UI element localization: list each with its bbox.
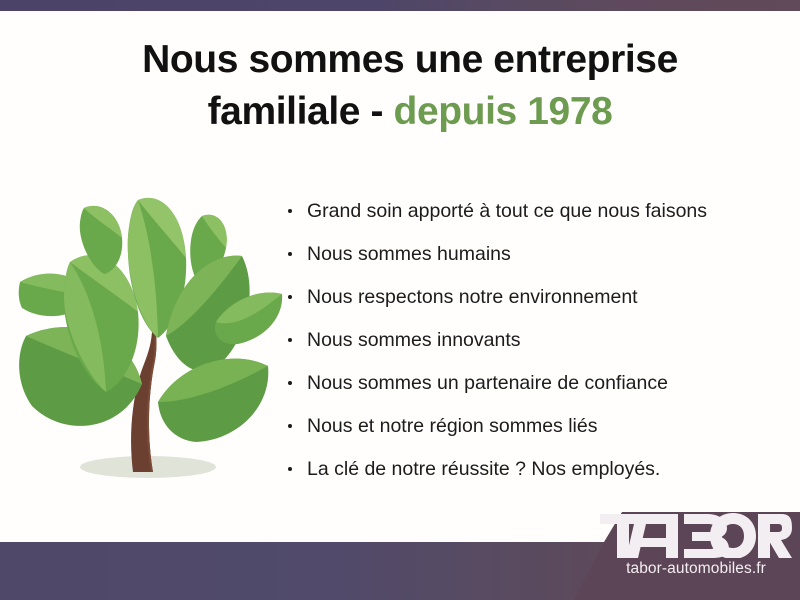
logo-letter-t [600,514,629,558]
bullet-dot-icon [288,295,292,299]
top-accent-bar [0,0,800,11]
list-item: Nous et notre région sommes liés [284,405,784,448]
title-line-2-accent: depuis 1978 [394,90,613,133]
logo-url-text: tabor-automobiles.fr [600,560,792,578]
page-title: Nous sommes une entreprise familiale - d… [60,34,760,138]
list-item: Nous respectons notre environnement [284,276,784,319]
logo-letter-a-stem [666,514,678,558]
list-item: La clé de notre réussite ? Nos employés. [284,448,784,491]
list-item-label: Nous sommes innovants [307,329,521,351]
logo-letter-a-crossbar [638,538,668,547]
logo-letter-o [710,513,756,558]
list-item: Grand soin apporté à tout ce que nous fa… [284,190,784,233]
list-item-label: Nous et notre région sommes liés [307,415,597,437]
bullet-dot-icon [288,252,292,256]
bullet-dot-icon [288,381,292,385]
tabor-logo-wordmark [600,512,792,558]
value-bullet-list: Grand soin apporté à tout ce que nous fa… [284,190,784,491]
list-item-label: Grand soin apporté à tout ce que nous fa… [307,200,707,222]
slide: Nous sommes une entreprise familiale - d… [0,0,800,600]
tree-illustration [16,186,286,494]
list-item-label: Nous sommes un partenaire de confiance [307,372,668,394]
bullet-dot-icon [288,338,292,342]
title-line-2-main: familiale - [208,90,394,133]
list-item: Nous sommes humains [284,233,784,276]
list-item: Nous sommes innovants [284,319,784,362]
logo-letter-r [758,514,792,558]
list-item-label: Nous sommes humains [307,243,511,265]
list-item-label: La clé de notre réussite ? Nos employés. [307,458,660,480]
bullet-dot-icon [288,467,292,471]
bullet-dot-icon [288,209,292,213]
list-item-label: Nous respectons notre environnement [307,286,638,308]
bullet-dot-icon [288,424,292,428]
title-line-1: Nous sommes une entreprise [142,38,678,81]
list-item: Nous sommes un partenaire de confiance [284,362,784,405]
leaf-right-lower [158,359,268,442]
